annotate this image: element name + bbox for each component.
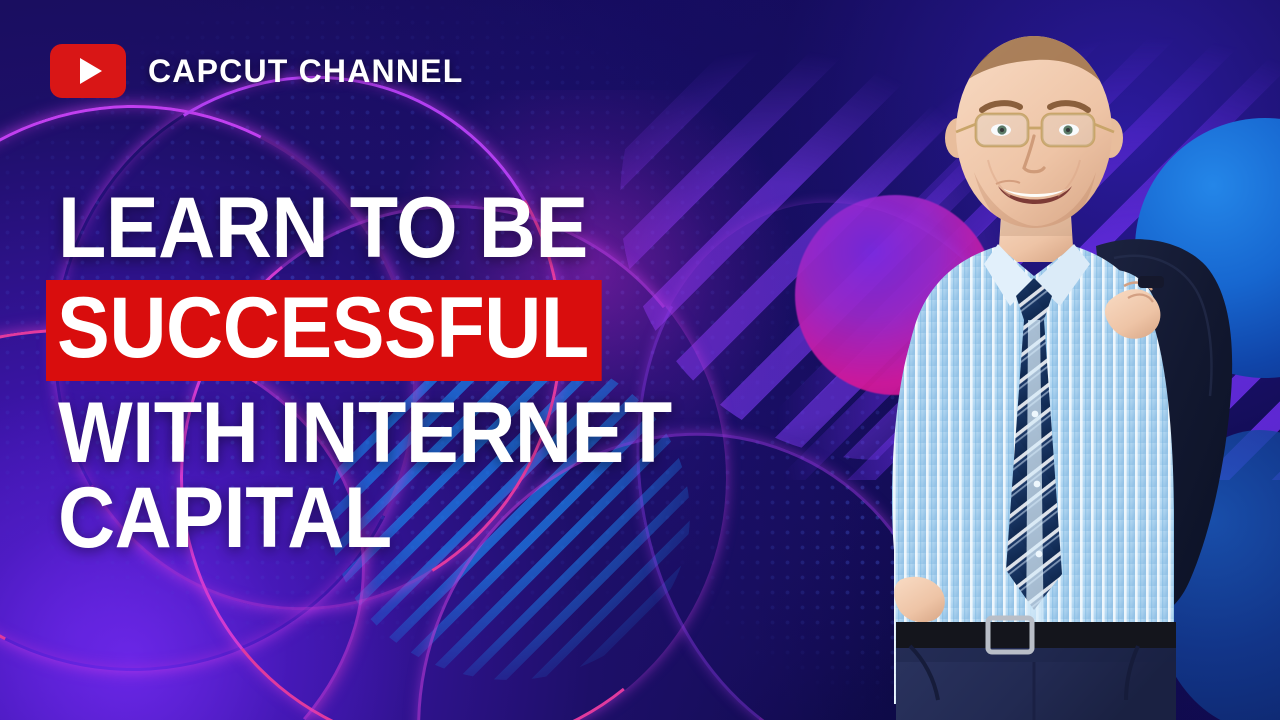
- channel-badge: CAPCUT CHANNEL: [50, 44, 463, 98]
- belt: [896, 622, 1176, 648]
- headline-line-4: CAPITAL: [58, 476, 794, 561]
- subject-businessman-photo: [838, 14, 1278, 720]
- play-triangle-icon: [80, 58, 102, 84]
- headline-line-2-highlighted: SUCCESSFUL: [46, 280, 602, 381]
- youtube-play-icon[interactable]: [50, 44, 126, 98]
- headline-block: LEARN TO BE SUCCESSFUL WITH INTERNET CAP…: [58, 186, 858, 562]
- wristwatch: [1138, 276, 1164, 288]
- headline-line-3: WITH INTERNET: [58, 391, 794, 476]
- youtube-thumbnail: CAPCUT CHANNEL LEARN TO BE SUCCESSFUL WI…: [0, 0, 1280, 720]
- headline-line-1: LEARN TO BE: [58, 186, 794, 271]
- channel-name-label: CAPCUT CHANNEL: [148, 53, 463, 90]
